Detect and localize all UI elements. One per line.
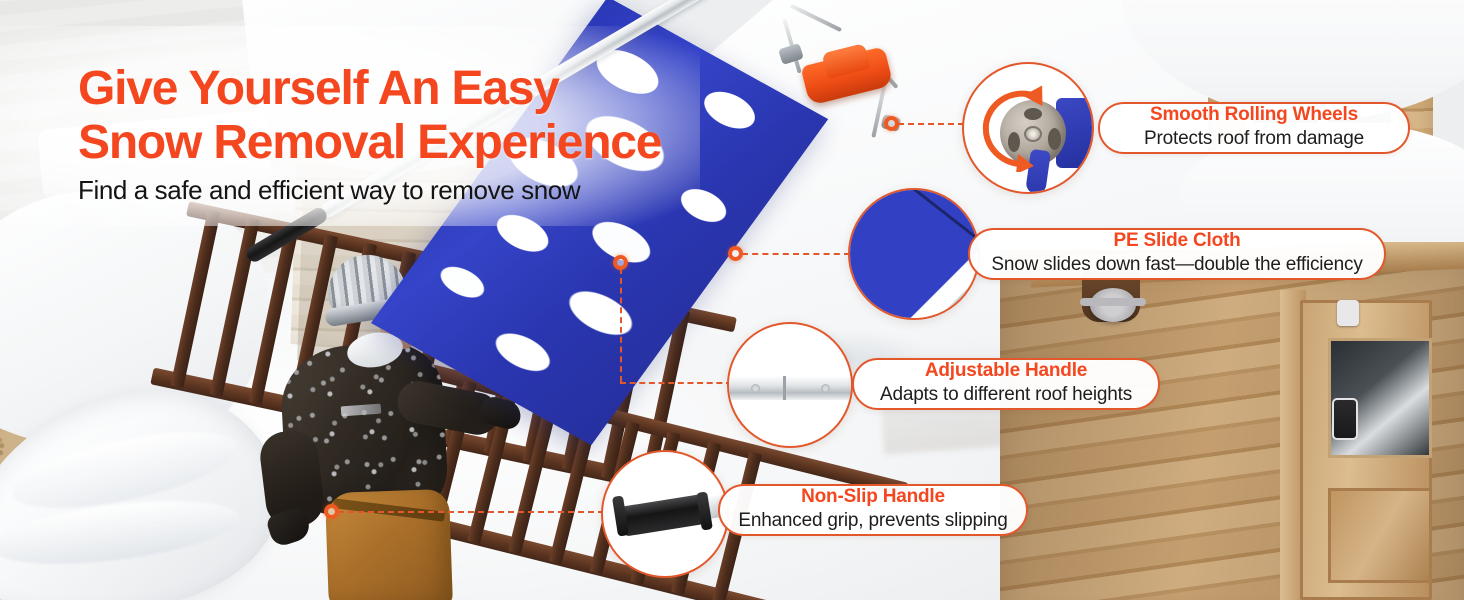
zoom-circle-non-slip-handle [601,450,729,578]
callout-title: Smooth Rolling Wheels [1150,103,1358,126]
headline-line-2: Snow Removal Experience [78,116,661,170]
leader-line-wheels [898,123,964,125]
callout-label-non-slip-handle: Non-Slip Handle Enhanced grip, prevents … [718,484,1028,536]
headline-line-1: Give Yourself An Easy [78,62,559,116]
anchor-dot-adjustable [613,255,628,270]
zoom-circle-pe-slide-cloth [848,188,980,320]
callout-subtitle: Protects roof from damage [1144,127,1364,151]
callout-subtitle: Enhanced grip, prevents slipping [738,509,1007,533]
tube-lock-button [751,384,760,393]
anchor-dot-grip [324,504,339,519]
anchor-dot-cloth [728,246,743,261]
rotation-arrow-icon [976,80,1050,172]
callout-label-smooth-rolling-wheels: Smooth Rolling Wheels Protects roof from… [1098,102,1410,154]
telescoping-tube-closeup [727,376,853,400]
frame-wire-clip [778,43,804,65]
pe-fabric-closeup [848,188,980,320]
callout-label-adjustable-handle: Adjustable Handle Adapts to different ro… [852,358,1160,410]
callout-title: Adjustable Handle [925,359,1087,382]
leader-line-cloth [742,253,850,255]
zoom-circle-adjustable-handle [727,322,853,448]
callout-label-pe-slide-cloth: PE Slide Cloth Snow slides down fast—dou… [968,228,1386,280]
subheadline: Find a safe and efficient way to remove … [78,174,580,206]
callout-subtitle: Snow slides down fast—double the efficie… [991,253,1362,277]
product-infographic-banner: Smooth Rolling Wheels Protects roof from… [0,0,1464,600]
tube-lock-button [821,384,830,393]
tube-joint-seam [783,376,786,400]
callout-title: Non-Slip Handle [801,485,945,508]
anchor-dot-wheels [884,116,899,131]
callout-subtitle: Adapts to different roof heights [880,383,1132,407]
leader-line-adjustable-vertical [620,268,622,382]
leader-line-adjustable-horizontal [620,382,732,384]
callout-title: PE Slide Cloth [1113,229,1240,252]
frame-wire-arm [790,4,842,32]
zoom-circle-smooth-rolling-wheels [962,62,1094,194]
leader-line-grip [338,511,604,513]
